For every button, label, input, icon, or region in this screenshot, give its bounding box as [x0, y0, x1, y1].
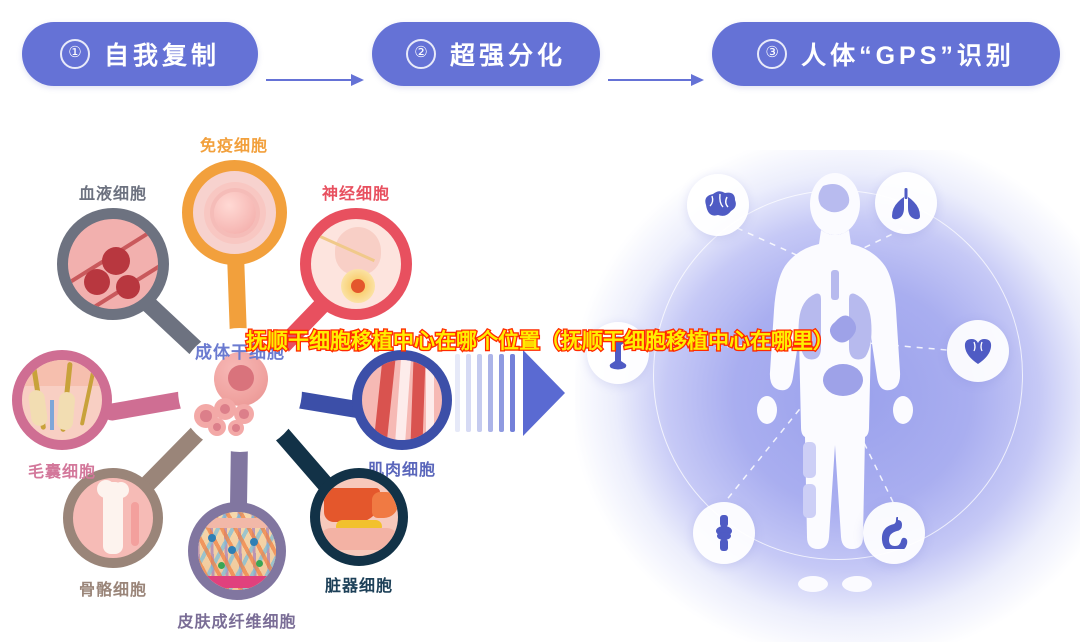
organ-bubble-knee[interactable] — [693, 502, 755, 564]
muscle-cell-icon — [352, 350, 452, 450]
brain-icon — [700, 191, 736, 219]
step-label-3: 人体“GPS”识别 — [801, 36, 1015, 72]
motion-arrow-right-icon — [455, 350, 565, 436]
process-steps: ① 自我复制 ② 超强分化 ③ 人体“GPS”识别 — [0, 22, 1080, 108]
stem-cell-icon — [228, 420, 244, 436]
cell-node-fibroblast[interactable]: 皮肤成纤维细胞 — [188, 502, 286, 600]
cell-label-blood: 血液细胞 — [45, 180, 181, 204]
knee-joint-icon — [714, 515, 734, 551]
arrow-right-icon — [351, 74, 364, 86]
cell-node-bone[interactable]: 骨骼细胞 — [63, 468, 163, 568]
cell-node-muscle[interactable]: 肌肉细胞 — [352, 350, 452, 450]
cell-label-immune: 免疫细胞 — [164, 132, 304, 156]
cell-label-organ: 脏器细胞 — [305, 572, 413, 596]
cell-node-follicle[interactable]: 毛囊细胞 — [12, 350, 112, 450]
arrow-right-icon — [691, 74, 704, 86]
nerve-cell-icon — [300, 208, 412, 320]
stomach-icon — [878, 517, 910, 549]
lungs-icon — [889, 186, 923, 220]
cell-label-nerve: 神经细胞 — [290, 180, 422, 204]
organ-cell-icon — [310, 468, 408, 566]
step-pill-2[interactable]: ② 超强分化 — [372, 22, 600, 86]
cell-node-nerve[interactable]: 神经细胞 — [300, 208, 412, 320]
step-number-3: ③ — [757, 39, 787, 69]
step-label-2: 超强分化 — [450, 36, 566, 72]
connector-line — [266, 79, 352, 81]
infographic-canvas: ① 自我复制 ② 超强分化 ③ 人体“GPS”识别 — [0, 0, 1080, 642]
organ-bubble-brain[interactable] — [687, 174, 749, 236]
cell-node-immune[interactable]: 免疫细胞 — [182, 160, 287, 265]
stem-cell-icon — [214, 398, 236, 420]
human-body-panel — [575, 150, 1080, 642]
step-label-1: 自我复制 — [104, 36, 220, 72]
cell-node-blood[interactable]: 血液细胞 — [57, 208, 169, 320]
immune-cell-icon — [182, 160, 287, 265]
step-pill-3[interactable]: ③ 人体“GPS”识别 — [712, 22, 1060, 86]
step-number-1: ① — [60, 39, 90, 69]
stem-cell-icon — [208, 418, 226, 436]
watermark-title: 抚顺干细胞移植中心在哪个位置（抚顺干细胞移植中心在哪里） — [0, 325, 1080, 355]
organ-bubble-lungs[interactable] — [875, 172, 937, 234]
step-connector-1 — [266, 74, 364, 86]
bone-cell-icon — [63, 468, 163, 568]
cell-label-fibroblast: 皮肤成纤维细胞 — [154, 608, 320, 632]
connector-line — [608, 79, 692, 81]
step-number-2: ② — [406, 39, 436, 69]
blood-cell-icon — [57, 208, 169, 320]
cell-label-bone: 骨骼细胞 — [59, 576, 167, 600]
skin-fibroblast-icon — [188, 502, 286, 600]
cell-label-follicle: 毛囊细胞 — [6, 458, 118, 482]
stem-cell-differentiation-diagram: 免疫细胞 血液细胞 神经细胞 — [0, 130, 470, 642]
step-connector-2 — [608, 74, 704, 86]
organ-bubble-stomach[interactable] — [863, 502, 925, 564]
hair-follicle-cell-icon — [12, 350, 112, 450]
step-pill-1[interactable]: ① 自我复制 — [22, 22, 258, 86]
cell-node-organ[interactable]: 脏器细胞 — [310, 468, 408, 566]
